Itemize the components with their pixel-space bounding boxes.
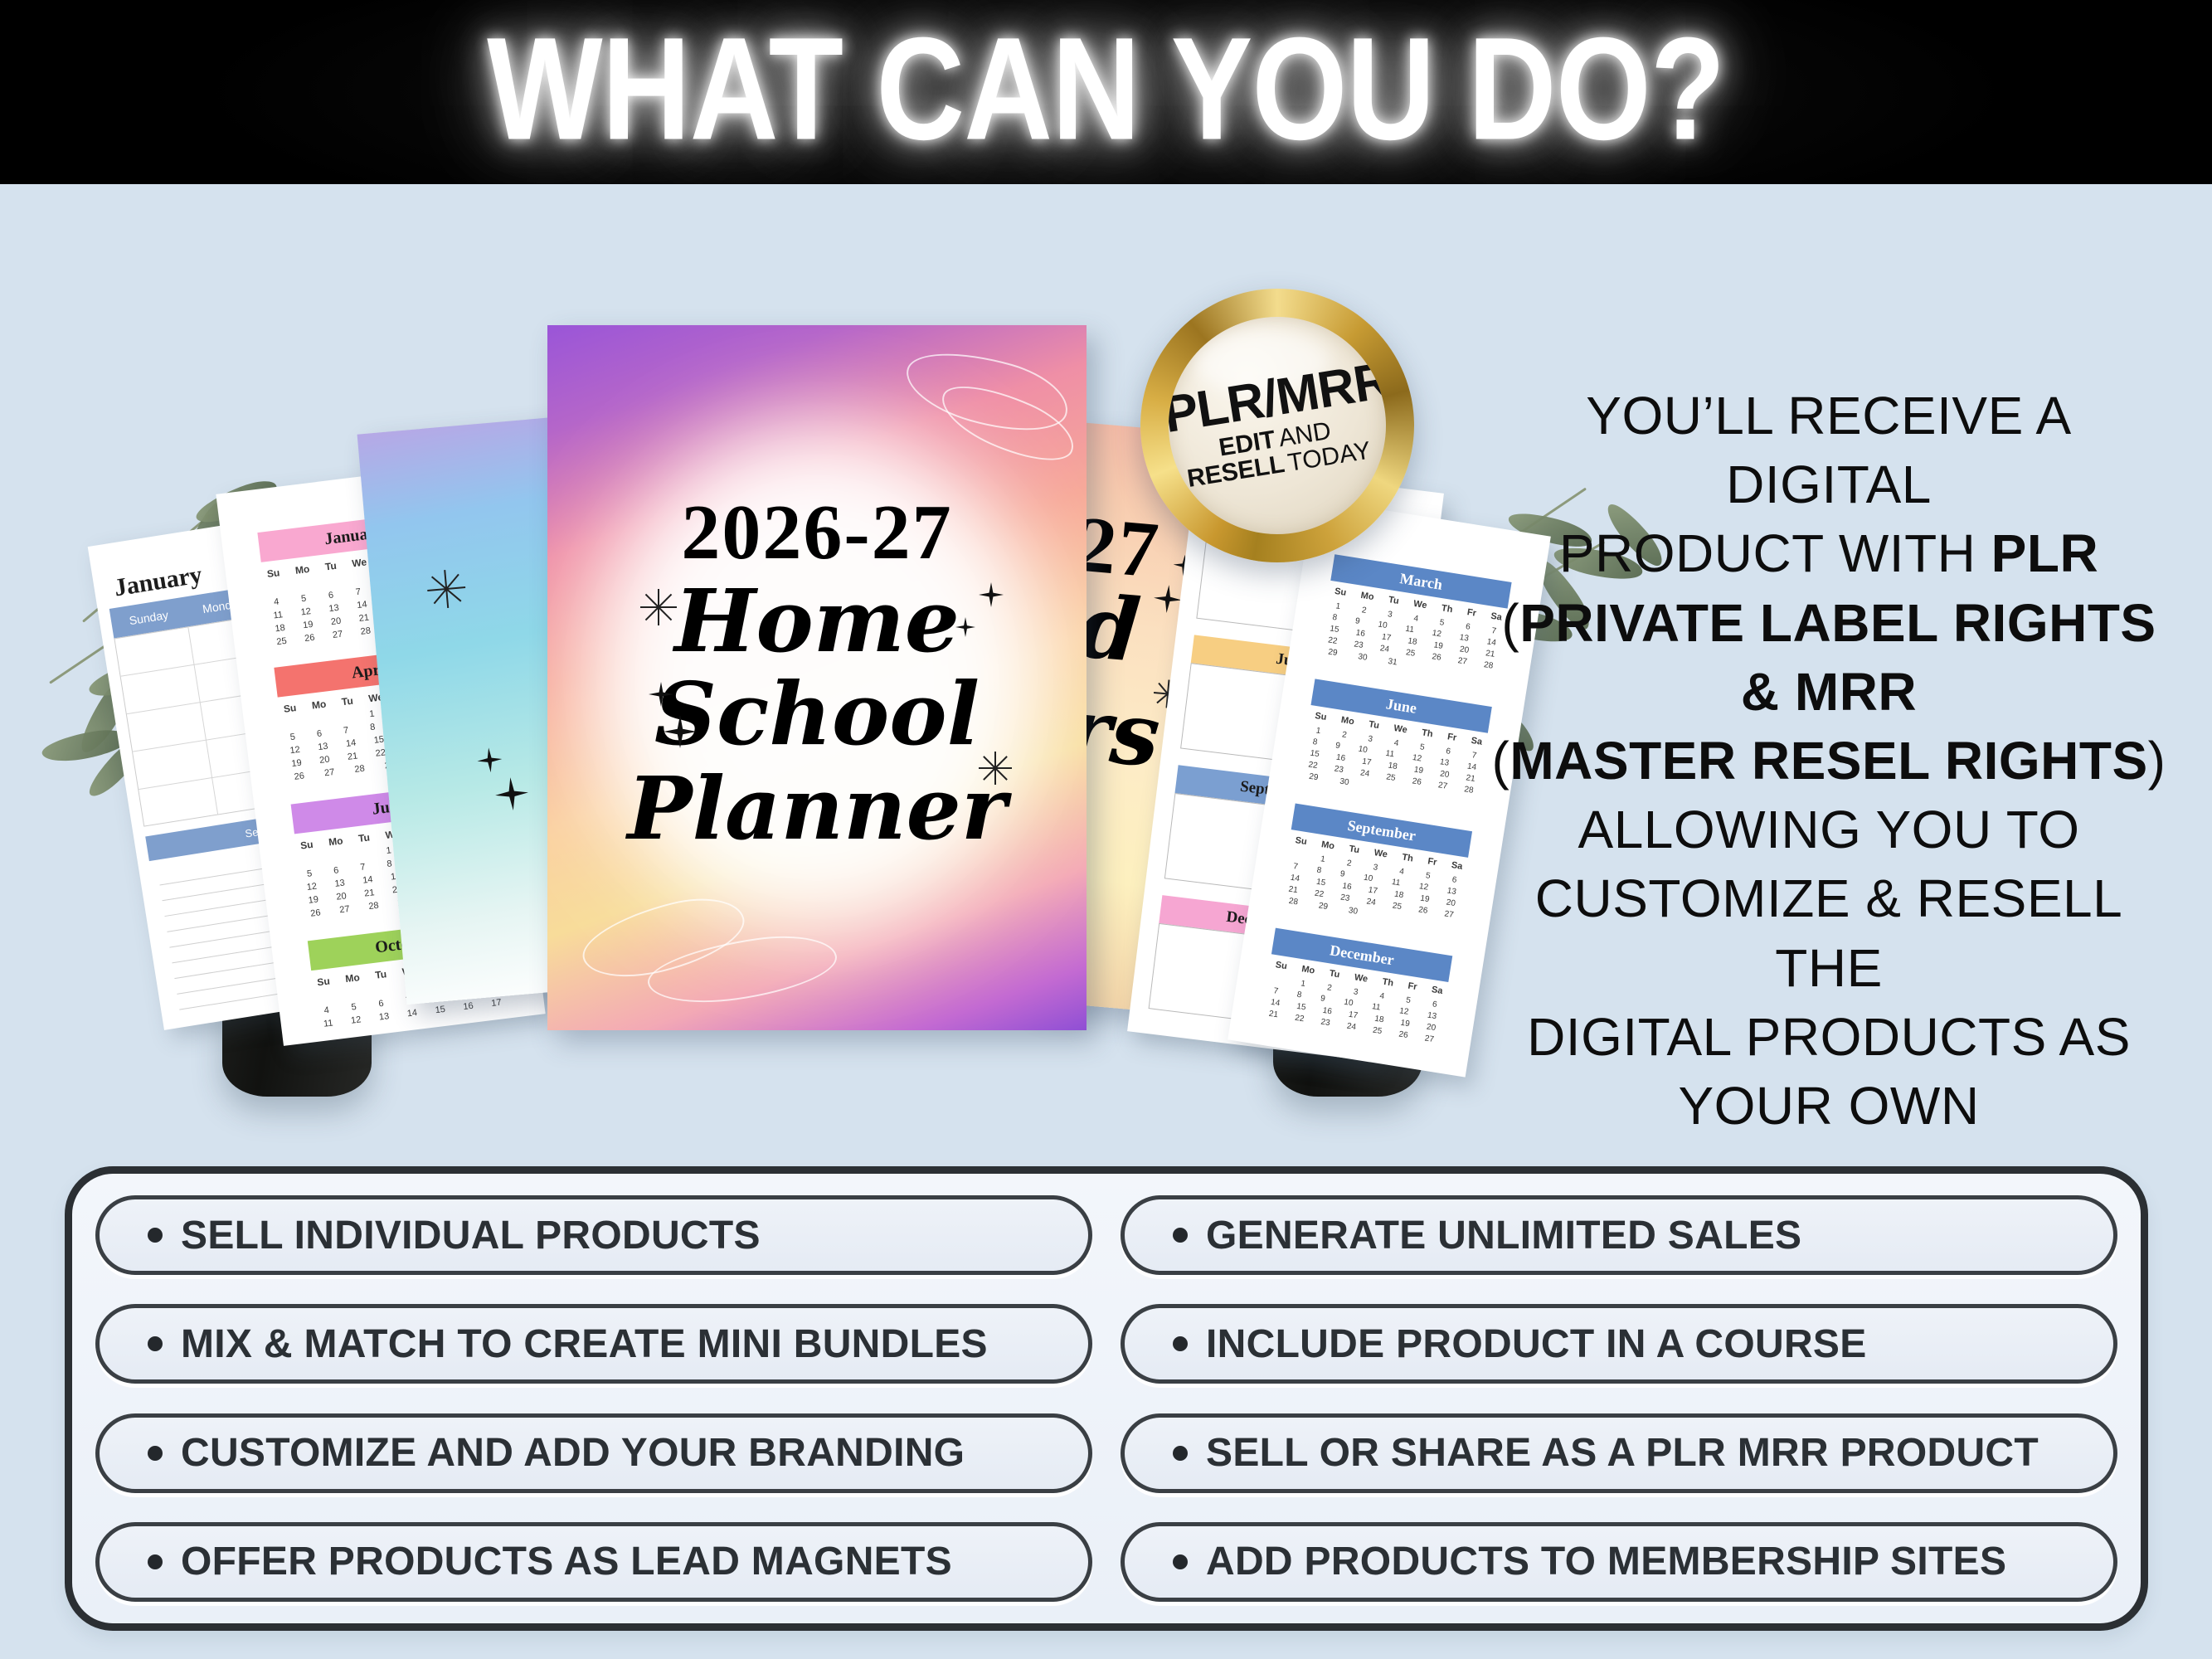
description-private-label-rights: PRIVATE LABEL RIGHTS — [1519, 593, 2156, 653]
bullet-icon — [1173, 1554, 1188, 1569]
description-line-3: (PRIVATE LABEL RIGHTS — [1485, 589, 2173, 658]
benefit-label: SELL OR SHARE AS A PLR MRR PRODUCT — [1206, 1430, 2039, 1476]
dow-su: Su — [1334, 586, 1347, 598]
benefit-pill[interactable]: CUSTOMIZE AND ADD YOUR BRANDING — [95, 1413, 1092, 1493]
benefit-pill[interactable]: GENERATE UNLIMITED SALES — [1121, 1195, 2117, 1275]
description-line-2-plain: PRODUCT WITH — [1559, 523, 1991, 583]
description-line-2: PRODUCT WITH PLR — [1485, 519, 2173, 588]
benefit-label: MIX & MATCH TO CREATE MINI BUNDLES — [181, 1321, 988, 1367]
benefit-pill[interactable]: OFFER PRODUCTS AS LEAD MAGNETS — [95, 1522, 1092, 1602]
header-band: WHAT CAN YOU DO? — [0, 0, 2212, 184]
benefit-label: OFFER PRODUCTS AS LEAD MAGNETS — [181, 1539, 952, 1584]
bullet-icon — [1173, 1228, 1188, 1243]
description-line-6: ALLOWING YOU TO — [1485, 795, 2173, 864]
benefit-pill[interactable]: SELL INDIVIDUAL PRODUCTS — [95, 1195, 1092, 1275]
benefits-column-left: SELL INDIVIDUAL PRODUCTS MIX & MATCH TO … — [95, 1195, 1092, 1602]
sparkle-burst-icon — [640, 589, 677, 625]
description-line-9: YOUR OWN — [1485, 1072, 2173, 1141]
description-master-resel-rights: MASTER RESEL RIGHTS — [1510, 731, 2147, 791]
bullet-icon — [148, 1228, 163, 1243]
sparkle-burst-icon — [979, 752, 1012, 785]
bullet-icon — [148, 1446, 163, 1461]
dow-su: Su — [266, 567, 280, 580]
description-line-4: & MRR — [1485, 658, 2173, 727]
planner-cover-main: 2026-27 Home School Planner — [547, 325, 1087, 1030]
paren-open-2: ( — [1492, 731, 1510, 791]
dow-mo: Mo — [1360, 591, 1375, 602]
benefit-pill[interactable]: MIX & MATCH TO CREATE MINI BUNDLES — [95, 1304, 1092, 1384]
dow-mo: Mo — [294, 563, 310, 577]
benefit-label: GENERATE UNLIMITED SALES — [1206, 1213, 1801, 1258]
sparkle-icon — [493, 776, 529, 811]
description-plr: PLR — [1991, 523, 2099, 583]
description-line-8: DIGITAL PRODUCTS AS — [1485, 1003, 2173, 1072]
benefit-pill[interactable]: INCLUDE PRODUCT IN A COURSE — [1121, 1304, 2117, 1384]
main-cover-line2: School — [547, 674, 1087, 755]
description-line-7: CUSTOMIZE & RESELL THE — [1485, 864, 2173, 1002]
benefit-label: ADD PRODUCTS TO MEMBERSHIP SITES — [1206, 1539, 2006, 1584]
benefit-label: CUSTOMIZE AND ADD YOUR BRANDING — [181, 1430, 965, 1476]
poster-root: WHAT CAN YOU DO? — [0, 0, 2212, 1659]
dow-we: We — [1412, 599, 1427, 611]
page-title: WHAT CAN YOU DO? — [0, 16, 2212, 162]
benefit-pill[interactable]: ADD PRODUCTS TO MEMBERSHIP SITES — [1121, 1522, 2117, 1602]
dow-fr: Fr — [1466, 607, 1477, 619]
bullet-icon — [1173, 1446, 1188, 1461]
page-title-text: WHAT CAN YOU DO? — [487, 16, 1724, 162]
paren-open: ( — [1501, 593, 1519, 653]
description-block: YOU’LL RECEIVE A DIGITAL PRODUCT WITH PL… — [1485, 382, 2173, 1141]
benefits-column-right: GENERATE UNLIMITED SALES INCLUDE PRODUCT… — [1121, 1195, 2117, 1602]
main-cover-year: 2026-27 — [547, 488, 1087, 577]
description-mrr: & MRR — [1741, 662, 1917, 722]
description-line-5: (MASTER RESEL RIGHTS) — [1485, 727, 2173, 795]
benefits-panel: SELL INDIVIDUAL PRODUCTS MIX & MATCH TO … — [65, 1166, 2148, 1631]
bullet-icon — [1173, 1336, 1188, 1351]
benefit-label: SELL INDIVIDUAL PRODUCTS — [181, 1213, 761, 1258]
dow-th: Th — [1441, 603, 1453, 615]
bullet-icon — [148, 1554, 163, 1569]
benefit-label: INCLUDE PRODUCT IN A COURSE — [1206, 1321, 1867, 1367]
dow-tu: Tu — [1388, 595, 1399, 606]
plr-mrr-badge: PLR/MRR EDIT AND RESELL TODAY — [1140, 289, 1414, 562]
dow-tu: Tu — [324, 560, 337, 573]
sparkle-icon — [476, 747, 503, 774]
main-cover-line1: Home — [547, 581, 1087, 662]
paren-close: ) — [2148, 731, 2166, 791]
bullet-icon — [148, 1336, 163, 1351]
benefit-pill[interactable]: SELL OR SHARE AS A PLR MRR PRODUCT — [1121, 1413, 2117, 1493]
dow-we: We — [352, 556, 367, 569]
description-line-1: YOU’LL RECEIVE A DIGITAL — [1485, 382, 2173, 519]
